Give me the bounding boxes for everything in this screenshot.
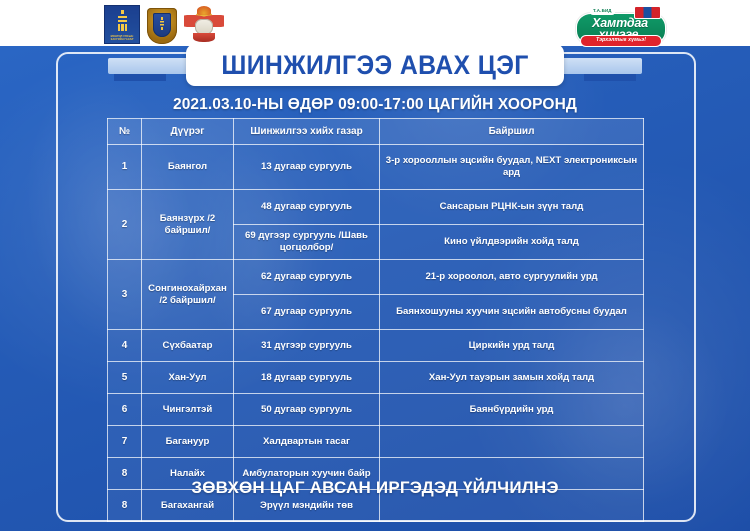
emblem-base-icon [193, 33, 215, 42]
table-row: 2 Баянзүрх /2 байршил/ 48 дугаар сургуул… [108, 190, 644, 225]
row-place: 67 дугаар сургууль [234, 295, 380, 330]
row-number: 6 [108, 394, 142, 426]
poster: МОНГОЛ УЛСЫН ЗАСГИЙН ГАЗАР Т.А.БИД Хамтд… [0, 0, 750, 531]
soyombo-icon [118, 10, 127, 31]
emblem-crown-icon [197, 6, 211, 15]
footer-note: ЗӨВХӨН ЦАГ АВСАН ИРГЭДЭД ҮЙЛЧИЛНЭ [0, 478, 750, 498]
row-place: 18 дугаар сургууль [234, 362, 380, 394]
row-place: 69 дүгээр сургууль /Шавь цогцолбор/ [234, 225, 380, 260]
row-number: 4 [108, 330, 142, 362]
row-district: Багануур [142, 426, 234, 458]
row-district: Сүхбаатар [142, 330, 234, 362]
column-header-no: № [108, 119, 142, 145]
row-location: 3-р хорооллын эцсийн буудал, NEXT электр… [380, 145, 644, 190]
column-header-district: Дүүрэг [142, 119, 234, 145]
column-header-place: Шинжилгээ хийх газар [234, 119, 380, 145]
row-place: 13 дугаар сургууль [234, 145, 380, 190]
row-number: 1 [108, 145, 142, 190]
row-district: Чингэлтэй [142, 394, 234, 426]
government-logo-caption: МОНГОЛ УЛСЫН ЗАСГИЙН ГАЗАР [105, 35, 139, 41]
government-of-mongolia-logo: МОНГОЛ УЛСЫН ЗАСГИЙН ГАЗАР [104, 5, 140, 44]
table-row: 1 Баянгол 13 дугаар сургууль 3-р хороолл… [108, 145, 644, 190]
row-location: Циркийн урд талд [380, 330, 644, 362]
table-row: 3 Сонгинохайрхан /2 байршил/ 62 дугаар с… [108, 260, 644, 295]
campaign-top-label: Т.А.БИД [590, 7, 615, 15]
row-location: Хан-Уул тауэрын замын хойд талд [380, 362, 644, 394]
logo-bar: МОНГОЛ УЛСЫН ЗАСГИЙН ГАЗАР Т.А.БИД Хамтд… [0, 0, 750, 46]
campaign-logo: Т.А.БИД Хамтдаа хичээе. Тэрхэлтыг хүмьэ! [570, 6, 670, 46]
row-district: Хан-Уул [142, 362, 234, 394]
row-place: 62 дугаар сургууль [234, 260, 380, 295]
dateline: 2021.03.10-НЫ ӨДӨР 09:00-17:00 ЦАГИЙН ХО… [0, 96, 750, 114]
row-place: 31 дүгээр сургууль [234, 330, 380, 362]
campaign-tagline: Тэрхэлтыг хүмьэ! [580, 35, 662, 47]
row-location: 21-р хороолол, авто сургуулийн урд [380, 260, 644, 295]
row-place: Халдвартын тасаг [234, 426, 380, 458]
table-row: 7 Багануур Халдвартын тасаг [108, 426, 644, 458]
row-location [380, 426, 644, 458]
testing-points-table: № Дүүрэг Шинжилгээ хийх газар Байршил 1 … [107, 118, 644, 522]
row-location: Баянбүрдийн урд [380, 394, 644, 426]
row-location: Баянхошууны хуучин эцсийн автобусны бууд… [380, 295, 644, 330]
row-place: 50 дугаар сургууль [234, 394, 380, 426]
row-number: 7 [108, 426, 142, 458]
poster-body: ШИНЖИЛГЭЭ АВАХ ЦЭГ 2021.03.10-НЫ ӨДӨР 09… [0, 46, 750, 531]
row-district: Баянгол [142, 145, 234, 190]
ulaanbaatar-city-emblem-logo [184, 6, 224, 44]
row-number: 2 [108, 190, 142, 260]
title-plate: ШИНЖИЛГЭЭ АВАХ ЦЭГ [186, 46, 564, 86]
row-location: Сансарын РЦНК-ын зүүн талд [380, 190, 644, 225]
row-place: 48 дугаар сургууль [234, 190, 380, 225]
ribbon-tab-right [558, 58, 642, 74]
police-emblem-logo [147, 8, 177, 44]
table-row: 5 Хан-Уул 18 дугаар сургууль Хан-Уул тау… [108, 362, 644, 394]
row-number: 3 [108, 260, 142, 330]
official-logos-group: МОНГОЛ УЛСЫН ЗАСГИЙН ГАЗАР [104, 5, 224, 44]
column-header-location: Байршил [380, 119, 644, 145]
page-title: ШИНЖИЛГЭЭ АВАХ ЦЭГ [221, 50, 528, 80]
row-district: Баянзүрх /2 байршил/ [142, 190, 234, 260]
table-header-row: № Дүүрэг Шинжилгээ хийх газар Байршил [108, 119, 644, 145]
row-location: Кино үйлдвэрийн хойд талд [380, 225, 644, 260]
table-row: 6 Чингэлтэй 50 дугаар сургууль Баянбүрди… [108, 394, 644, 426]
row-district: Сонгинохайрхан /2 байршил/ [142, 260, 234, 330]
row-number: 5 [108, 362, 142, 394]
title-ribbon: ШИНЖИЛГЭЭ АВАХ ЦЭГ [0, 46, 750, 90]
ribbon-tab-left [108, 58, 192, 74]
table-row: 4 Сүхбаатар 31 дүгээр сургууль Циркийн у… [108, 330, 644, 362]
